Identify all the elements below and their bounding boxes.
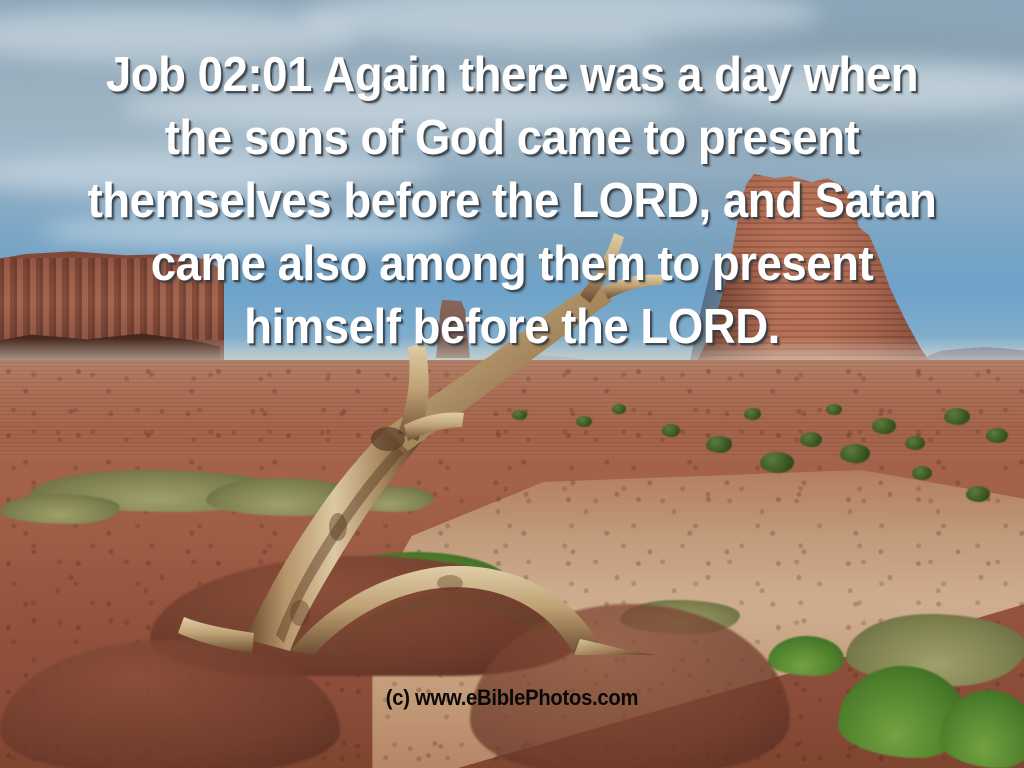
desert-shrub [576, 416, 592, 427]
desert-shrub [744, 408, 761, 420]
desert-shrub [966, 486, 990, 502]
verse-text: Job 02:01 Again there was a day when the… [36, 44, 988, 359]
verse-line: themselves before the LORD, and Satan [36, 170, 988, 233]
dry-grass-clump [206, 478, 356, 516]
desert-shrub [905, 436, 925, 450]
desert-shrub [986, 428, 1008, 443]
desert-shrub [512, 410, 527, 420]
desert-shrub [706, 436, 732, 453]
desert-shrub [800, 432, 822, 447]
desert-shrub [944, 408, 970, 425]
verse-line: came also among them to present [36, 233, 988, 296]
desert-shrub [826, 404, 842, 415]
dry-grass-clump [0, 494, 120, 524]
copyright-watermark: (c) www.eBiblePhotos.com [41, 686, 983, 710]
desert-shrub [872, 418, 896, 434]
dry-grass-clump [344, 486, 434, 512]
green-grass-tuft [768, 636, 844, 676]
scripture-photo: Job 02:01 Again there was a day when the… [0, 0, 1024, 768]
desert-floor-far [0, 360, 1024, 430]
verse-line: himself before the LORD. [36, 296, 988, 359]
desert-shrub [662, 424, 680, 437]
desert-shrub [612, 404, 626, 414]
verse-line: Job 02:01 Again there was a day when [36, 44, 988, 107]
desert-shrub [912, 466, 932, 480]
desert-shrub [840, 444, 870, 463]
verse-line: the sons of God came to present [36, 107, 988, 170]
desert-shrub [760, 452, 794, 473]
